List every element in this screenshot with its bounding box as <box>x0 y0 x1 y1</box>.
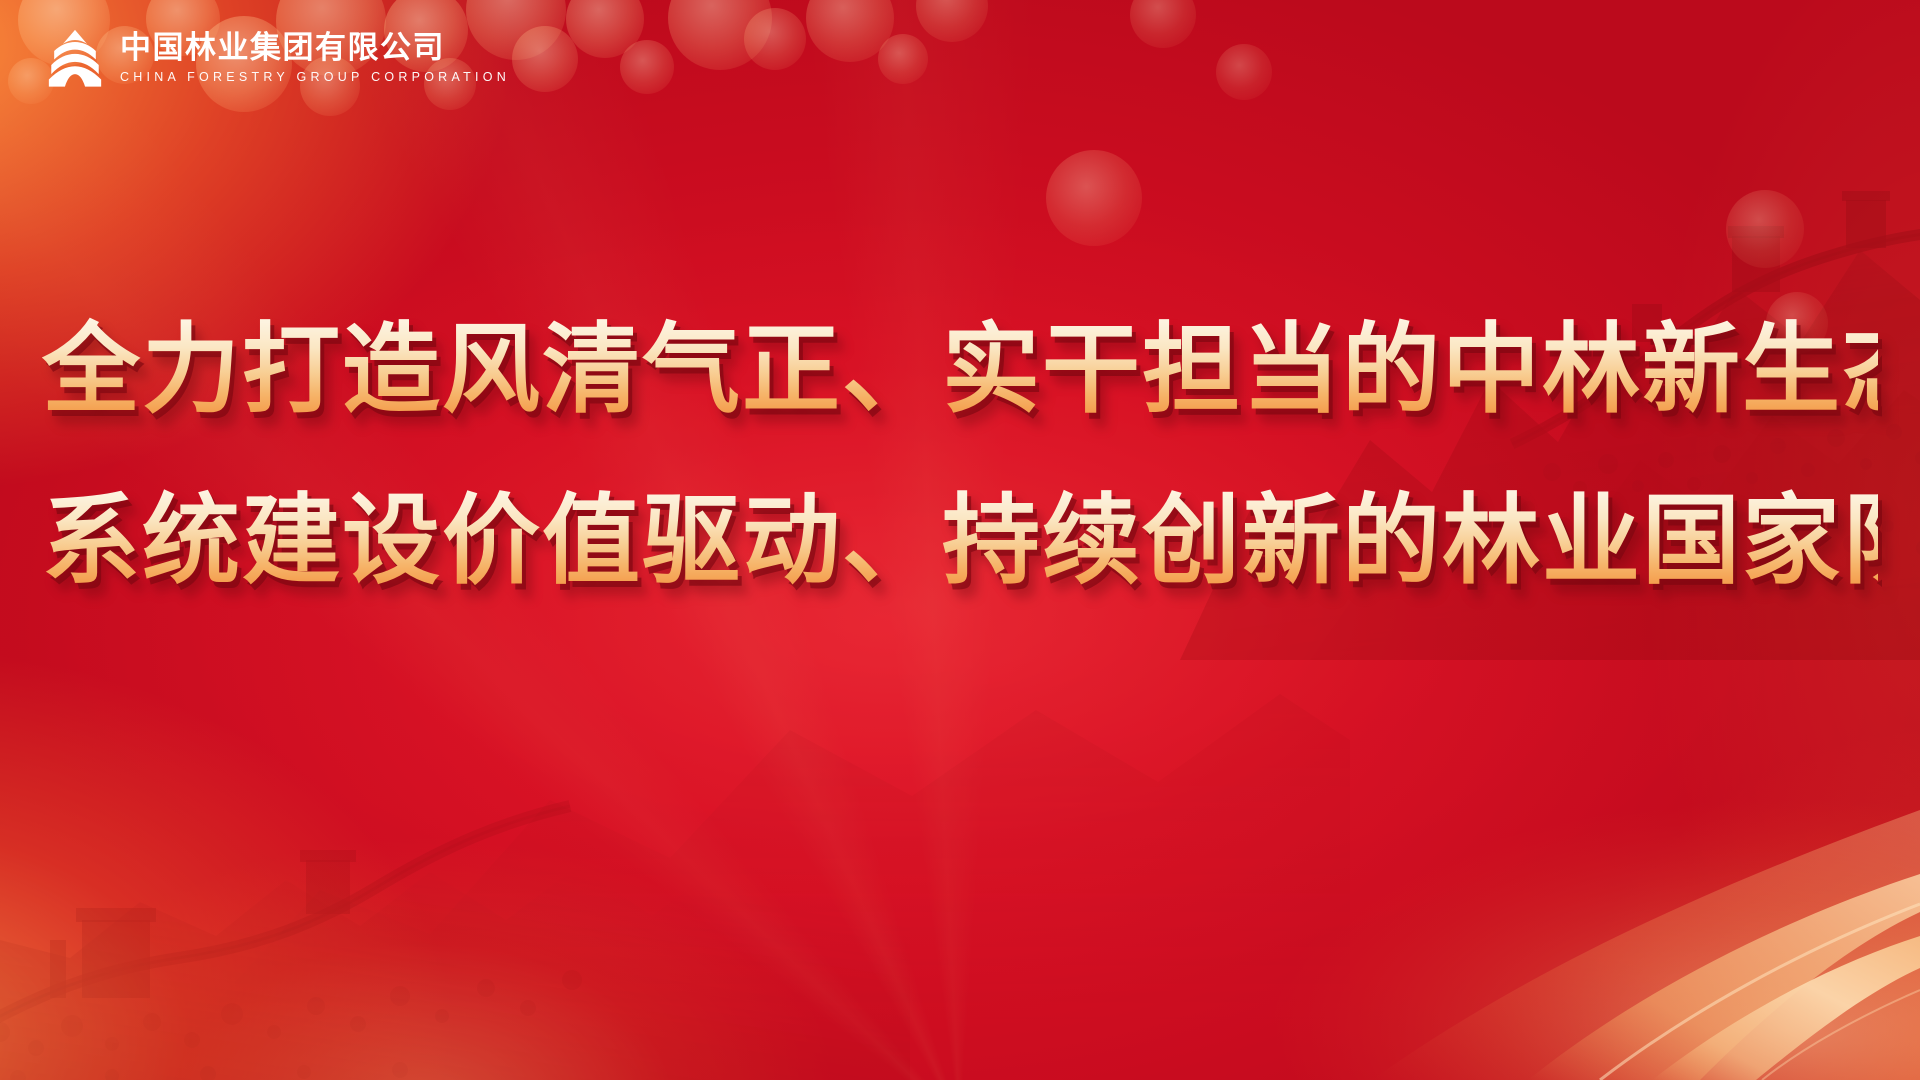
bokeh-circle <box>1726 190 1804 268</box>
company-name-cn: 中国林业集团有限公司 <box>120 31 510 66</box>
mountain-silhouette-watermark <box>200 590 1350 1020</box>
bokeh-circle <box>1046 150 1142 246</box>
headline-block: 全力打造风清气正、实干担当的中林新生态 系统建设价值驱动、持续创新的林业国家队 <box>0 300 1920 610</box>
bokeh-circle <box>512 26 578 92</box>
bokeh-circle <box>744 8 806 70</box>
bokeh-circle <box>620 40 674 94</box>
china-forestry-group-pagoda-mark-icon <box>44 27 106 89</box>
great-wall-watermark-lower-left <box>0 640 910 1080</box>
company-logo[interactable]: 中国林业集团有限公司 CHINA FORESTRY GROUP CORPORAT… <box>44 27 510 89</box>
bokeh-circle <box>878 34 928 84</box>
bokeh-circle <box>668 0 772 70</box>
company-name-en: CHINA FORESTRY GROUP CORPORATION <box>120 70 510 85</box>
logo-text-block: 中国林业集团有限公司 CHINA FORESTRY GROUP CORPORAT… <box>120 31 510 86</box>
bokeh-circle <box>806 0 894 62</box>
bokeh-circle <box>566 0 644 58</box>
bokeh-circle <box>1216 44 1272 100</box>
bokeh-circle <box>1130 0 1196 48</box>
poster-canvas: 中国林业集团有限公司 CHINA FORESTRY GROUP CORPORAT… <box>0 0 1920 1080</box>
headline-line-2: 系统建设价值驱动、持续创新的林业国家队 <box>42 471 1878 610</box>
headline-line-1: 全力打造风清气正、实干担当的中林新生态 <box>42 300 1878 439</box>
gold-ribbon-swoosh <box>980 660 1920 1080</box>
bokeh-circle <box>916 0 988 42</box>
